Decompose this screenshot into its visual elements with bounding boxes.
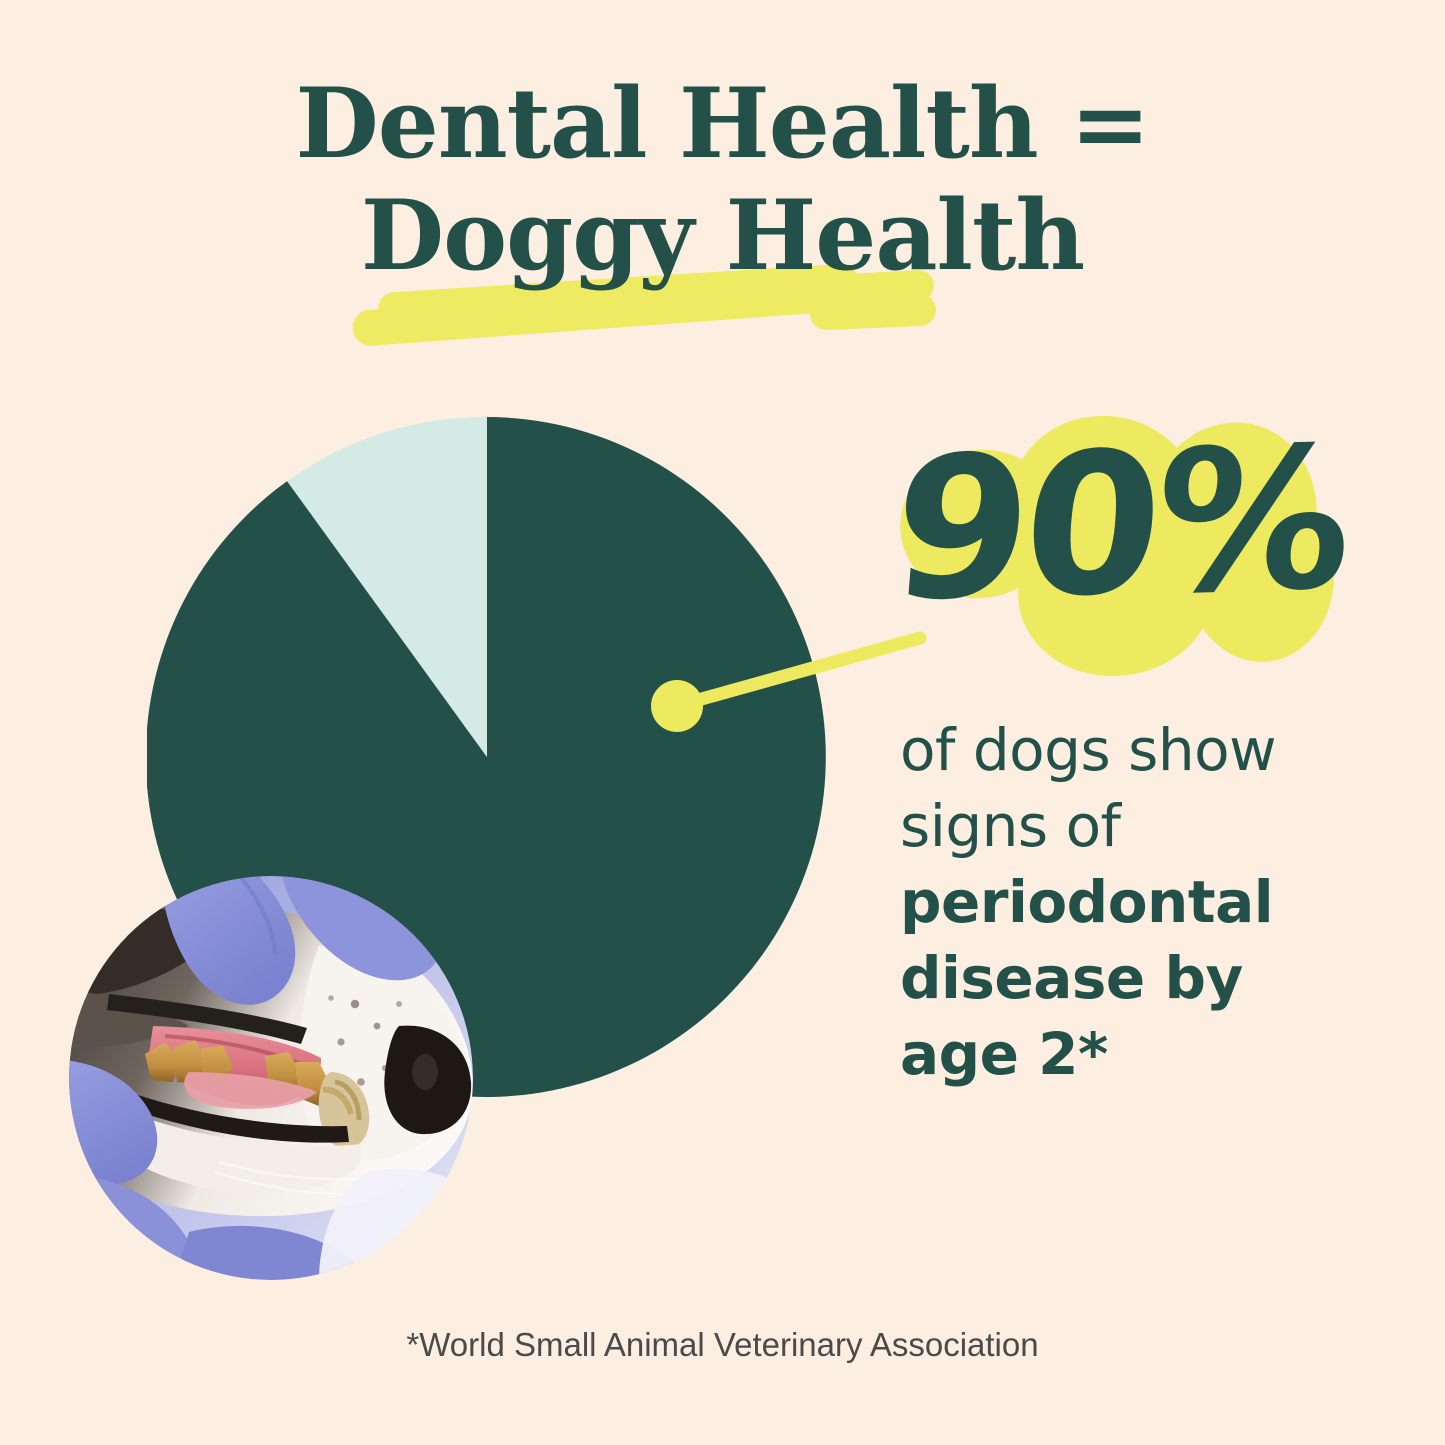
copy-line-5: age 2* xyxy=(900,1016,1370,1092)
percentage-callout: 90% xyxy=(890,412,1350,682)
title-line-2: Doggy Health xyxy=(0,180,1445,292)
callout-description: of dogs show signs of periodontal diseas… xyxy=(900,712,1370,1092)
dog-dental-exam-photo-svg xyxy=(69,876,473,1280)
page-title: Dental Health = Doggy Health xyxy=(0,68,1445,292)
copy-line-4: disease by xyxy=(900,940,1370,1016)
copy-line-3: periodontal xyxy=(900,864,1370,940)
percent-value: 90% xyxy=(880,394,1361,656)
source-footnote: *World Small Animal Veterinary Associati… xyxy=(0,1326,1445,1364)
dog-dental-exam-photo xyxy=(69,876,473,1280)
infographic-canvas: Dental Health = Doggy Health xyxy=(0,0,1445,1445)
title-highlight-blob-right-lower xyxy=(809,293,936,330)
title-line-1: Dental Health = xyxy=(0,68,1445,180)
copy-line-1: of dogs show xyxy=(900,712,1370,788)
copy-line-2: signs of xyxy=(900,788,1370,864)
